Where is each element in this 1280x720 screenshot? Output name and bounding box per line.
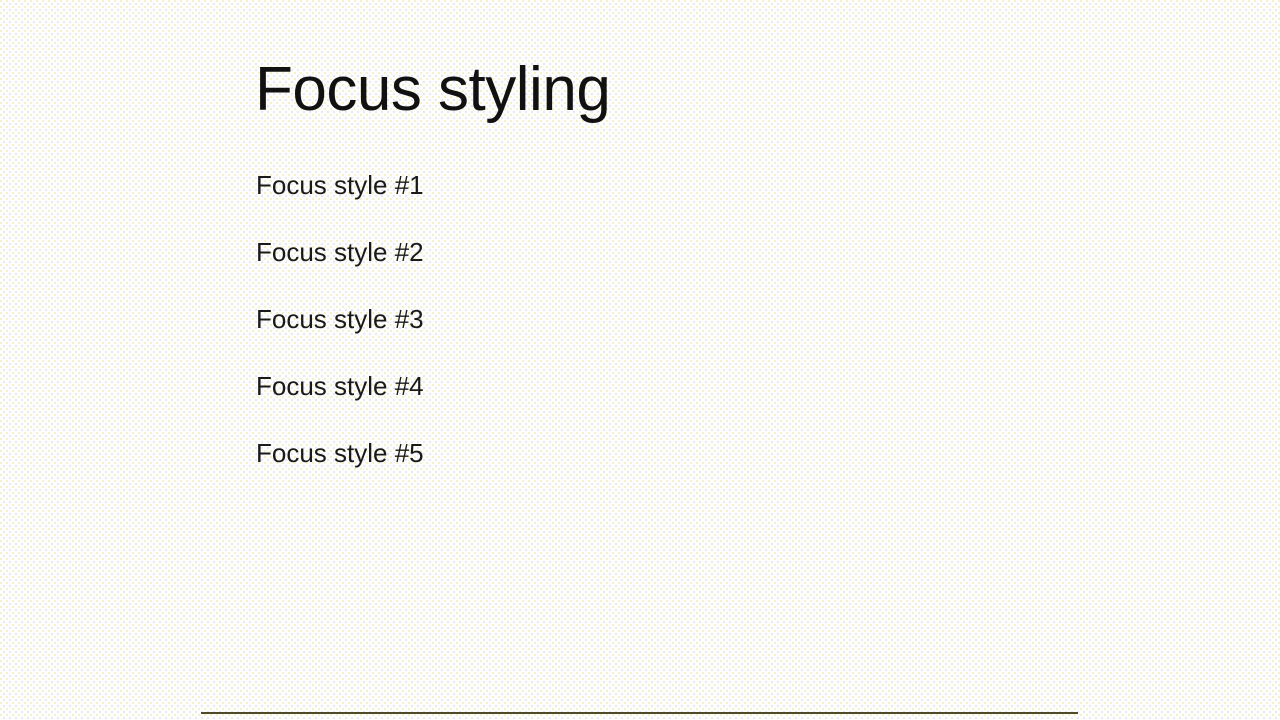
focus-style-list: Focus style #1 Focus style #2 Focus styl… (256, 172, 424, 507)
list-item[interactable]: Focus style #2 (256, 239, 424, 306)
presentation-slide: Focus styling Focus style #1 Focus style… (0, 0, 1280, 720)
list-item[interactable]: Focus style #1 (256, 172, 424, 239)
list-item[interactable]: Focus style #5 (256, 440, 424, 507)
list-item[interactable]: Focus style #3 (256, 306, 424, 373)
footer-divider (201, 712, 1078, 714)
page-title: Focus styling (255, 55, 610, 124)
list-item[interactable]: Focus style #4 (256, 373, 424, 440)
slide-content: Focus styling Focus style #1 Focus style… (255, 0, 1155, 720)
